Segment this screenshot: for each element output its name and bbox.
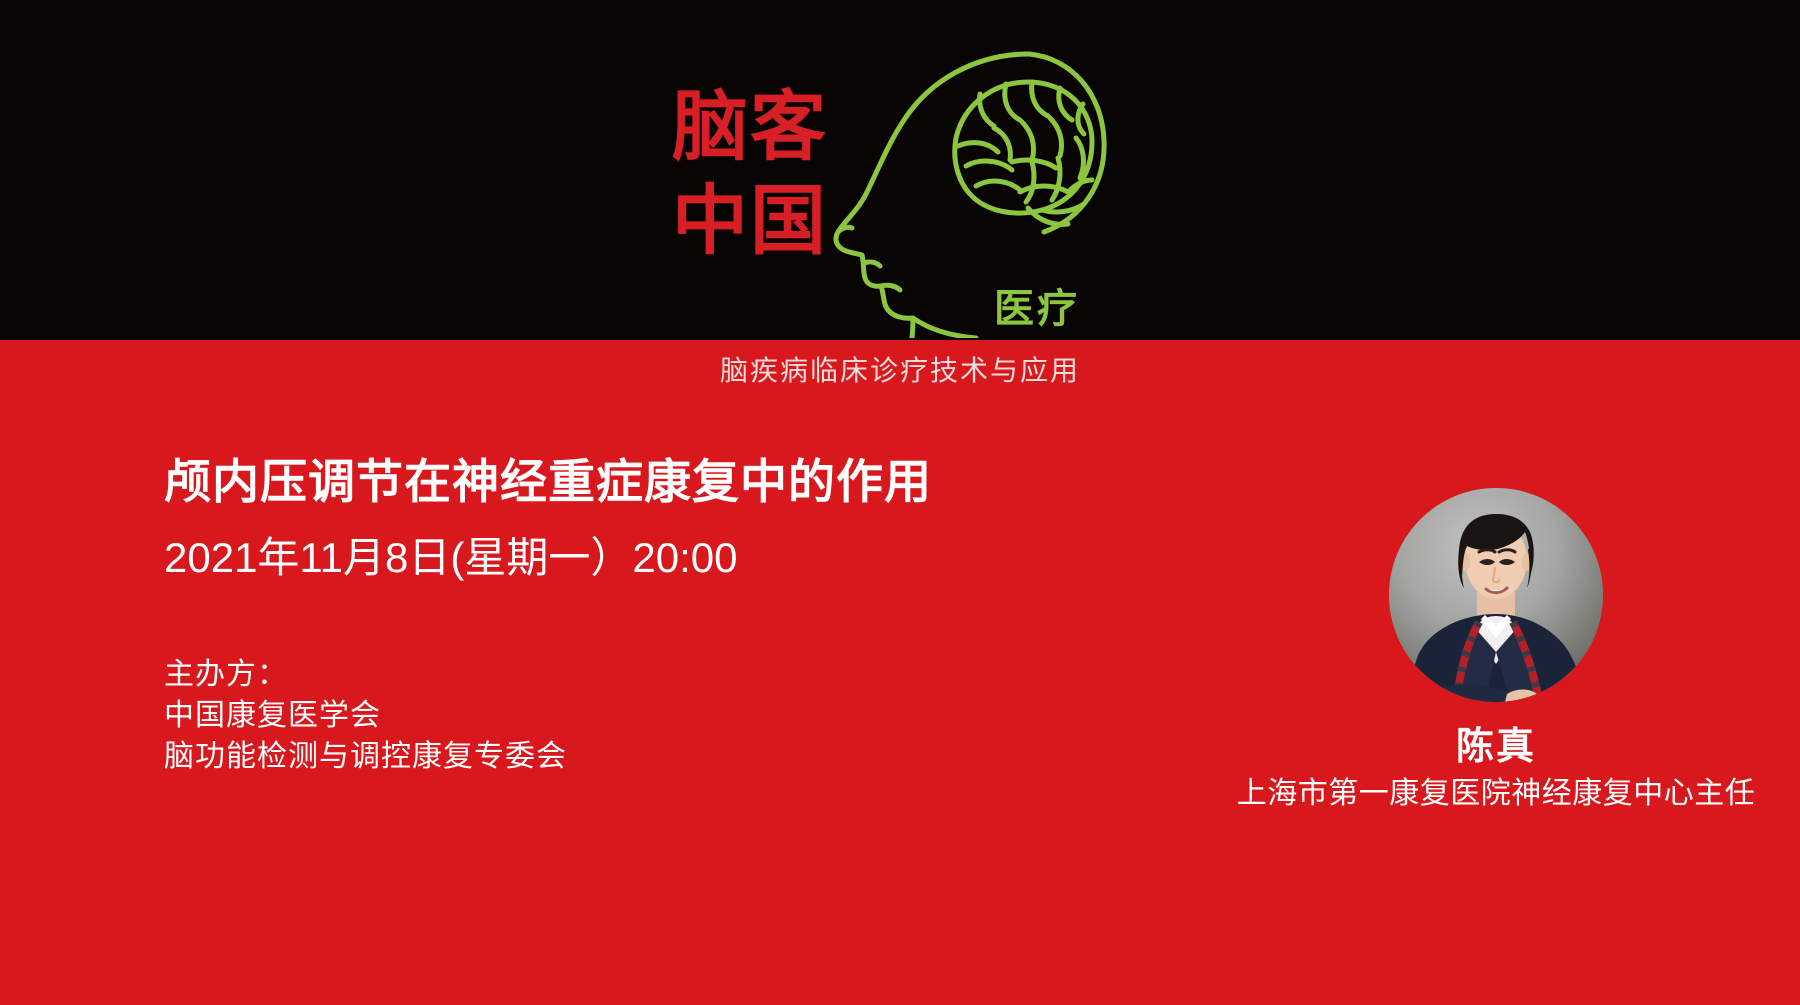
talk-info-column: 颅内压调节在神经重症康复中的作用 2021年11月8日(星期一）20:00 主办…: [164, 452, 1164, 777]
brand-logo-lockup: 脑客 中国: [672, 42, 1112, 338]
speaker-name: 陈真: [1190, 724, 1800, 770]
speaker-title: 上海市第一康复医院神经康复中心主任: [1190, 774, 1800, 814]
host-organization-1: 中国康复医学会: [164, 695, 1164, 736]
host-block: 主办方： 中国康复医学会 脑功能检测与调控康复专委会: [164, 654, 1164, 777]
series-tagline: 脑疾病临床诊疗技术与应用: [0, 354, 1800, 388]
webinar-poster: 脑客 中国: [0, 0, 1800, 1005]
speaker-column: 陈真 上海市第一康复医院神经康复中心主任: [1190, 488, 1800, 814]
host-label: 主办方：: [164, 654, 1164, 695]
talk-title: 颅内压调节在神经重症康复中的作用: [164, 452, 1164, 512]
talk-datetime: 2021年11月8日(星期一）20:00: [164, 532, 1164, 584]
avatar: [1389, 488, 1603, 702]
host-organization-2: 脑功能检测与调控康复专委会: [164, 736, 1164, 777]
brand-category-label: 医疗: [994, 286, 1080, 332]
